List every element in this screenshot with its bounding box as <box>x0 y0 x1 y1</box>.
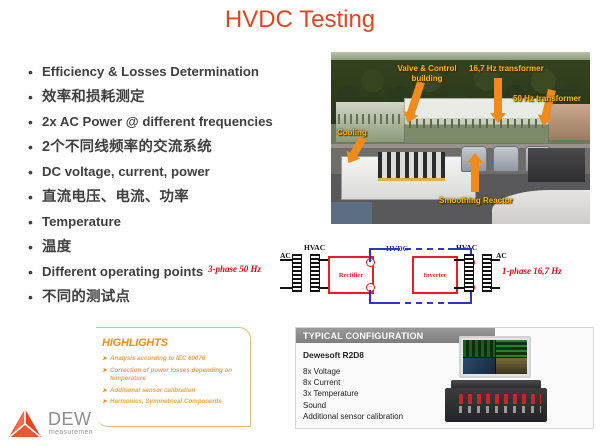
arrow-bullet-icon: ➤ <box>102 387 110 396</box>
circuit-dc-dashed-line <box>394 248 450 250</box>
photo-label-transformer-167: 16,7 Hz transformer <box>469 64 544 74</box>
bullet-marker-icon: • <box>26 210 42 234</box>
hvdc-circuit-diagram: 3-phase 50 Hz 1-phase 16,7 Hz AC HVAC HV… <box>208 238 600 300</box>
circuit-wire <box>490 287 500 289</box>
circuit-wire-dc <box>448 248 472 250</box>
bullet-marker-icon: • <box>26 110 42 134</box>
circuit-label-left-supply: 3-phase 50 Hz <box>208 264 261 274</box>
list-item: • DC voltage, current, power <box>26 160 326 184</box>
photo-label-transformer-50: 50 Hz transformer <box>513 94 581 104</box>
list-item: 8x Voltage <box>303 366 403 377</box>
circuit-inverter-label: Inverter <box>423 272 446 279</box>
circuit-label-hvac-left: HVAC <box>304 243 325 252</box>
list-item: ➤ Correction of power losses depending o… <box>102 367 244 384</box>
photo-valve-control-building <box>404 98 549 144</box>
display-pane <box>496 340 528 357</box>
bullet-marker-icon: • <box>26 185 42 209</box>
circuit-label-right-supply: 1-phase 16,7 Hz <box>502 266 562 276</box>
list-item: Sound <box>303 400 403 411</box>
device-display <box>463 340 527 374</box>
circuit-wire-dc <box>369 302 395 304</box>
dew-subtext: measuremen <box>49 429 93 436</box>
photo-label-valve-control: Valve & Control building <box>383 64 471 83</box>
arrow-bullet-icon: ➤ <box>102 355 110 364</box>
photo-valve-rack <box>378 152 445 181</box>
arrow-transformer-167-icon <box>494 78 502 114</box>
slide-root: HVDC Testing • Efficiency & Losses Deter… <box>0 0 600 447</box>
device-name: Dewesoft R2D8 <box>303 350 364 360</box>
list-item: 8x Current <box>303 377 403 388</box>
bullet-text: Temperature <box>42 210 121 234</box>
typical-configuration-panel: TYPICAL CONFIGURATION Dewesoft R2D8 8x V… <box>295 327 594 429</box>
photo-reactor-tank <box>493 146 519 172</box>
bullet-marker-icon: • <box>26 60 42 84</box>
circuit-coil-hvac-right <box>464 254 474 292</box>
photo-water <box>331 202 372 224</box>
display-pane <box>496 358 528 375</box>
list-item: ➤ Analysis according to IEC 60076 <box>102 355 244 364</box>
device-spec-list: 8x Voltage 8x Current 3x Temperature Sou… <box>303 366 403 422</box>
photo-right-building <box>549 104 590 140</box>
bullet-text: 2个不同线频率的交流系统 <box>42 135 212 159</box>
circuit-wire-dc <box>470 290 472 304</box>
device-screen <box>459 336 531 378</box>
dewesoft-device-image <box>437 334 555 422</box>
display-pane <box>463 340 495 357</box>
circuit-rectifier-label: Rectifier <box>339 272 363 279</box>
list-item: • Efficiency & Losses Determination <box>26 60 326 84</box>
list-item: • 效率和损耗测定 <box>26 85 326 109</box>
bullet-text: 2x AC Power @ different frequencies <box>42 110 273 134</box>
list-item: • 2x AC Power @ different frequencies <box>26 110 326 134</box>
circuit-wire <box>280 259 292 261</box>
device-body <box>445 388 547 422</box>
circuit-dc-dashed-line <box>394 302 450 304</box>
list-item: ➤ Additional sensor calibration <box>102 387 244 396</box>
page-title: HVDC Testing <box>0 6 600 34</box>
hvdc-station-photo: Valve & Control building 16,7 Hz transfo… <box>331 52 590 224</box>
device-connector-row-bottom <box>459 406 541 413</box>
highlight-text: Analysis according to IEC 60076 <box>110 355 205 364</box>
bullet-text: 不同的测试点 <box>42 285 130 309</box>
display-pane <box>463 358 495 375</box>
bullet-marker-icon: • <box>26 235 42 259</box>
photo-right-equipment <box>528 148 585 182</box>
bullet-marker-icon: • <box>26 135 42 159</box>
bullet-marker-icon: • <box>26 85 42 109</box>
dew-triangle-logo-icon <box>8 408 42 438</box>
list-item: 3x Temperature <box>303 388 403 399</box>
bullet-text: 效率和损耗测定 <box>42 85 145 109</box>
device-connector-row-top <box>459 394 541 404</box>
bullet-text: 温度 <box>42 235 71 259</box>
highlight-text: Additional sensor calibration <box>110 387 195 396</box>
photo-sky <box>331 52 590 60</box>
circuit-inverter-block: Inverter <box>412 256 458 294</box>
circuit-coil-ac-left <box>292 254 302 292</box>
bullet-marker-icon: • <box>26 285 42 309</box>
photo-label-valve-control-line2: building <box>411 74 442 83</box>
photo-label-smoothing-reactor: Smoothing Reactor <box>439 196 513 206</box>
list-item: • 直流电压、电流、功率 <box>26 185 326 209</box>
list-item: • Temperature <box>26 210 326 234</box>
circuit-wire-dc <box>369 248 371 262</box>
arrow-bullet-icon: ➤ <box>102 367 110 384</box>
dew-wordmark: DEW <box>48 409 92 430</box>
bullet-text: Different operating points <box>42 260 203 284</box>
bullet-text: DC voltage, current, power <box>42 160 210 184</box>
list-item: Additional sensor calibration <box>303 411 403 422</box>
photo-label-valve-control-line1: Valve & Control <box>397 64 456 73</box>
arrow-smoothing-reactor-icon <box>471 162 479 192</box>
circuit-wire <box>280 287 292 289</box>
circuit-wire-dc <box>369 248 395 250</box>
bullet-marker-icon: • <box>26 260 42 284</box>
list-item: • 2个不同线频率的交流系统 <box>26 135 326 159</box>
bullet-marker-icon: • <box>26 160 42 184</box>
circuit-wire <box>490 259 500 261</box>
highlight-text: Correction of power losses depending on … <box>110 367 244 384</box>
highlights-heading: HIGHLIGHTS <box>102 337 250 349</box>
highlight-text: Harmonics, Symmetrical Components <box>110 398 222 407</box>
photo-label-cooling: Cooling <box>337 128 367 138</box>
dew-logo: DEW measuremen <box>8 406 124 442</box>
bullet-text: 直流电压、电流、功率 <box>42 185 189 209</box>
bullet-text: Efficiency & Losses Determination <box>42 60 259 84</box>
circuit-wire-dc <box>448 302 472 304</box>
